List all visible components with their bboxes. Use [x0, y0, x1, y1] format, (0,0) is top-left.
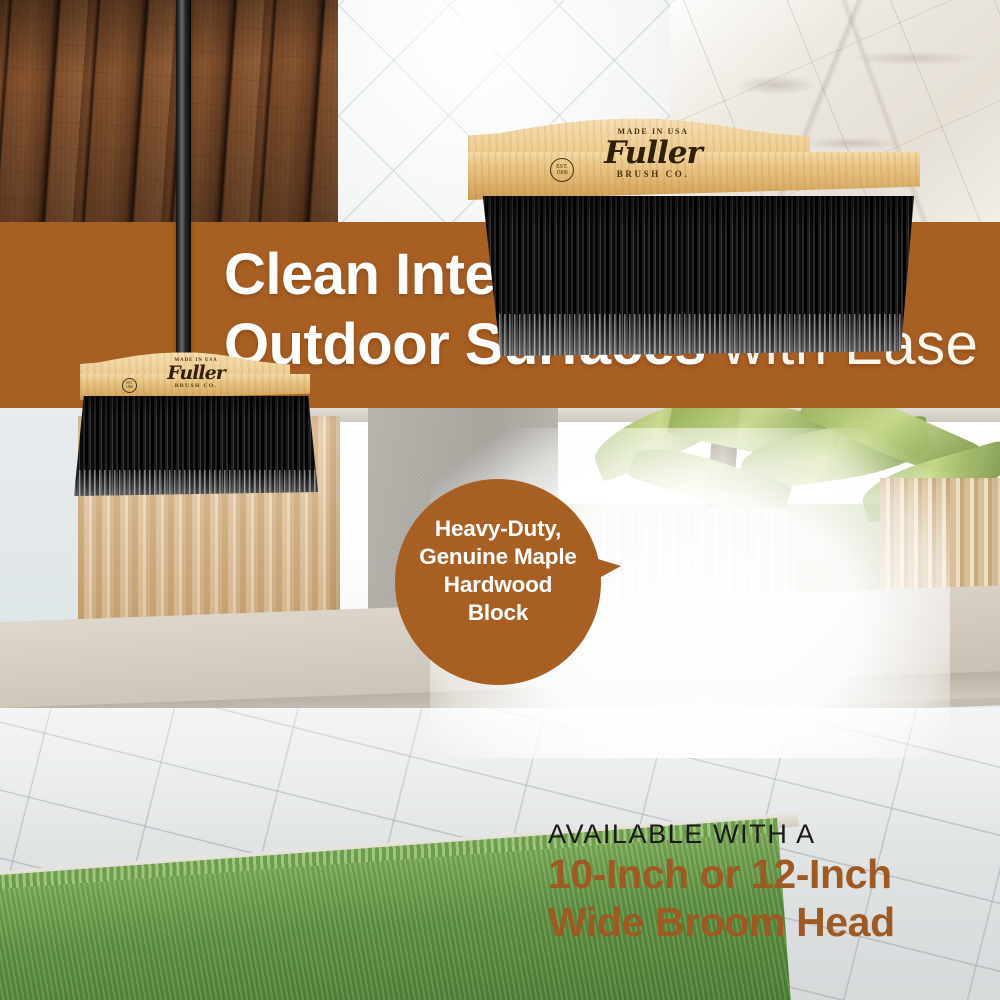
floating-broom-head-product: MADE IN USA Fuller BRUSH CO. EST. 1906 — [468, 118, 928, 368]
fuller-logo: MADE IN USA Fuller BRUSH CO. — [122, 358, 270, 390]
logo-est-seal: EST. 1906 — [122, 378, 137, 393]
logo-est-seal: EST. 1906 — [550, 158, 574, 182]
logo-brush-co: BRUSH CO. — [122, 384, 270, 390]
product-banner: MADE IN USA Fuller BRUSH CO. EST. 1906 M… — [0, 0, 1000, 1000]
logo-brush-co: BRUSH CO. — [548, 170, 758, 179]
callout-line-3: Hardwood — [395, 571, 601, 599]
broom-bristles — [74, 396, 318, 496]
size-option-line-2: Wide Broom Head — [548, 898, 978, 946]
broom-bristles — [474, 196, 914, 356]
logo-seal-year: 1906 — [126, 386, 133, 390]
feature-callout-badge: Heavy-Duty, Genuine Maple Hardwood Block — [395, 479, 620, 701]
logo-wordmark: Fuller — [122, 364, 270, 383]
standing-broom-product: MADE IN USA Fuller BRUSH CO. EST. 1906 — [60, 0, 360, 592]
callout-line-1: Heavy-Duty, — [395, 515, 601, 543]
callout-line-4: Block — [395, 599, 601, 627]
size-options-text-block: AVAILABLE WITH A 10-Inch or 12-Inch Wide… — [548, 818, 978, 946]
logo-wordmark: Fuller — [548, 138, 758, 169]
availability-eyebrow: AVAILABLE WITH A — [548, 818, 978, 850]
size-option-line-1: 10-Inch or 12-Inch — [548, 850, 978, 898]
fuller-logo: MADE IN USA Fuller BRUSH CO. — [548, 128, 758, 179]
logo-seal-year: 1906 — [556, 170, 568, 176]
callout-text: Heavy-Duty, Genuine Maple Hardwood Block — [395, 515, 601, 627]
callout-line-2: Genuine Maple — [395, 543, 601, 571]
broom-pole — [176, 0, 191, 356]
